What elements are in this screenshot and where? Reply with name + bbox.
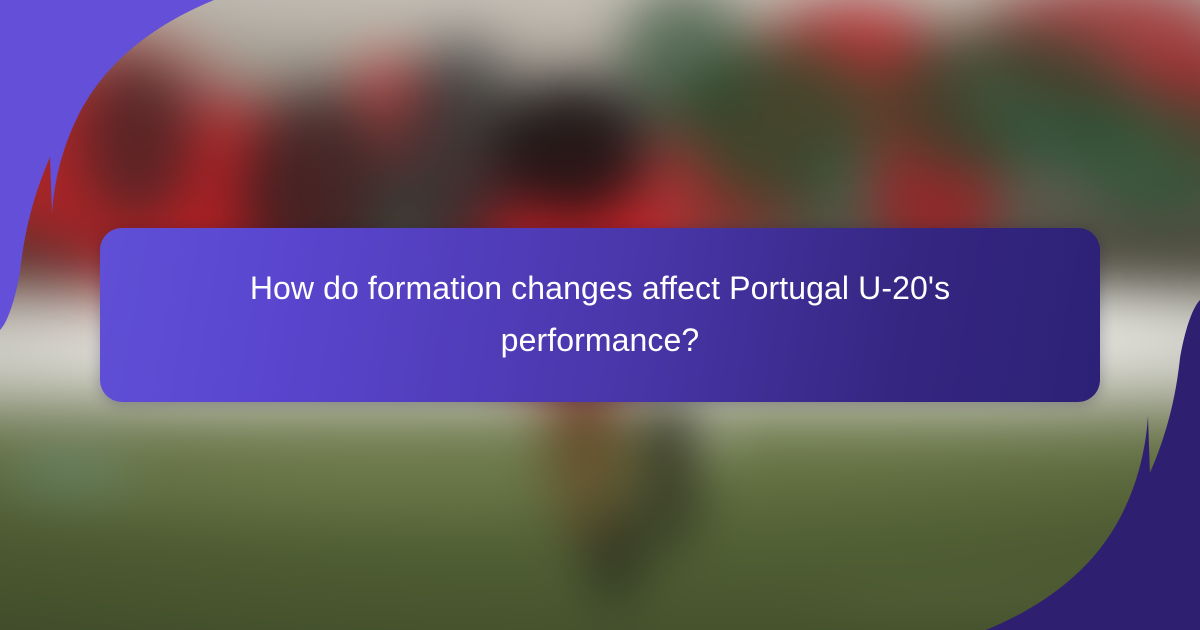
headline-card: How do formation changes affect Portugal… xyxy=(100,228,1100,402)
headline-text: How do formation changes affect Portugal… xyxy=(196,263,1004,367)
social-card-canvas: How do formation changes affect Portugal… xyxy=(0,0,1200,630)
